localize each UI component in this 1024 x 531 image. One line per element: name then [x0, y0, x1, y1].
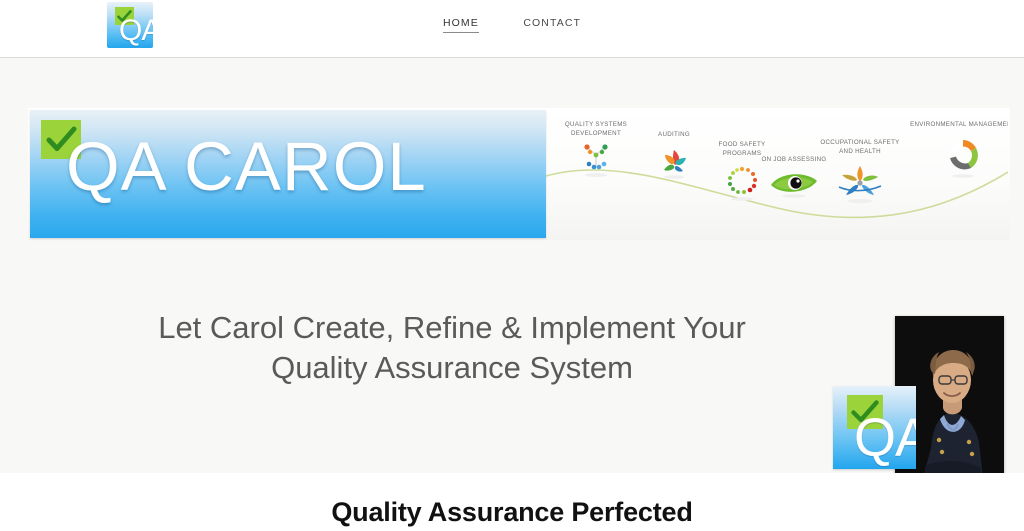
- hero-banner-image: QA CAROL QUALITY SYSTEMS DEVELOPMENT: [28, 108, 1010, 240]
- service-environmental-management: ENVIRONMENTAL MANAGEMENT: [898, 121, 1008, 185]
- service-quality-systems-development: QUALITY SYSTEMS DEVELOPMENT: [546, 121, 646, 184]
- portrait-qa-logo: QA: [833, 386, 916, 469]
- site-header: QA HOME CONTACT: [0, 0, 1024, 57]
- logo-letters: QA: [854, 411, 916, 465]
- service-label: ENVIRONMENTAL MANAGEMENT: [898, 121, 1008, 130]
- molecule-icon: [546, 143, 646, 184]
- banner-blue-panel: QA CAROL: [30, 110, 546, 238]
- hero-section: QA CAROL QUALITY SYSTEMS DEVELOPMENT: [0, 57, 1024, 473]
- recycle-icon: [898, 134, 1008, 185]
- page-section-heading: Quality Assurance Perfected: [0, 497, 1024, 528]
- tagline-line-1: Let Carol Create, Refine & Implement You…: [0, 308, 904, 348]
- hero-tagline: Let Carol Create, Refine & Implement You…: [0, 308, 1024, 387]
- nav-item-contact[interactable]: CONTACT: [523, 17, 581, 32]
- service-label: AUDITING: [638, 131, 710, 140]
- main-navigation: HOME CONTACT: [0, 16, 1024, 34]
- service-label: QUALITY SYSTEMS DEVELOPMENT: [546, 121, 646, 139]
- banner-title: QA CAROL: [66, 132, 427, 201]
- nav-item-home[interactable]: HOME: [443, 17, 479, 33]
- tagline-line-2: Quality Assurance System: [0, 348, 904, 388]
- services-strip: QUALITY SYSTEMS DEVELOPMENT: [546, 110, 1008, 238]
